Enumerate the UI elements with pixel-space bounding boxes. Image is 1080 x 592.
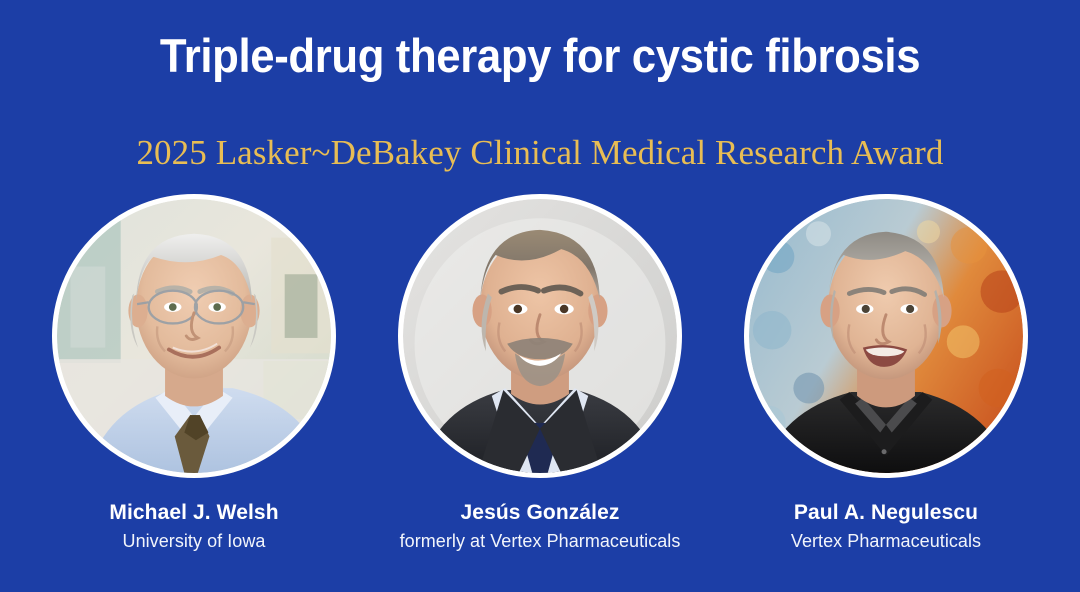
laureate-caption: Jesús González formerly at Vertex Pharma… [400, 500, 681, 553]
laureate-name: Paul A. Negulescu [791, 500, 981, 527]
laureate-list: Michael J. Welsh University of Iowa [0, 194, 1080, 592]
laureate-card: Jesús González formerly at Vertex Pharma… [396, 194, 684, 553]
award-subtitle: 2025 Lasker~DeBakey Clinical Medical Res… [0, 132, 1080, 174]
portrait-photo-welsh [57, 199, 331, 473]
laureate-caption: Paul A. Negulescu Vertex Pharmaceuticals [791, 500, 981, 553]
page-title: Triple-drug therapy for cystic fibrosis [38, 28, 1042, 84]
portrait-photo-negulescu [749, 199, 1023, 473]
laureate-affiliation: University of Iowa [109, 530, 278, 553]
avatar [744, 194, 1028, 478]
laureate-name: Jesús González [400, 500, 681, 527]
laureate-card: Michael J. Welsh University of Iowa [50, 194, 338, 553]
portrait-photo-gonzalez [403, 199, 677, 473]
award-banner: Triple-drug therapy for cystic fibrosis … [0, 0, 1080, 592]
laureate-affiliation: formerly at Vertex Pharmaceuticals [400, 530, 681, 553]
laureate-affiliation: Vertex Pharmaceuticals [791, 530, 981, 553]
laureate-caption: Michael J. Welsh University of Iowa [109, 500, 278, 553]
laureate-name: Michael J. Welsh [109, 500, 278, 527]
laureate-card: Paul A. Negulescu Vertex Pharmaceuticals [742, 194, 1030, 553]
avatar [52, 194, 336, 478]
avatar [398, 194, 682, 478]
